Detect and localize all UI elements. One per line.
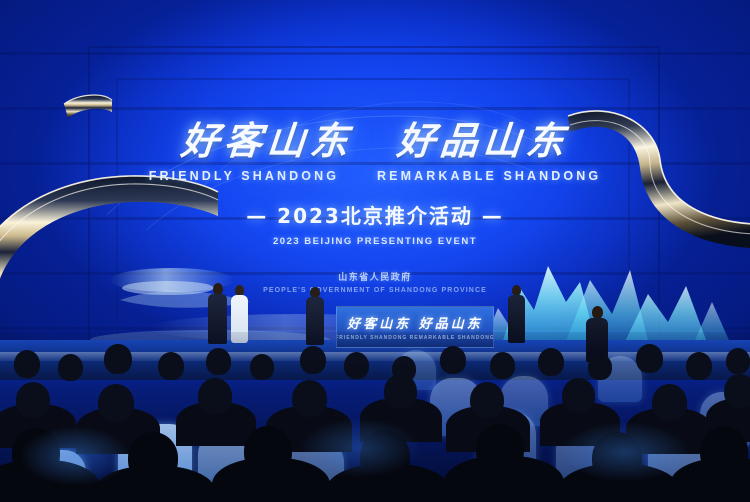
- audience-head: [562, 378, 595, 413]
- audience-head: [476, 424, 524, 474]
- organizer-english: PEOPLE'S GOVERNMENT OF SHANDONG PROVINCE: [0, 287, 750, 294]
- cn-title-left: 好客山东: [179, 122, 354, 160]
- audience-head: [104, 344, 132, 374]
- backdrop-title-block: 好客山东 好品山东 FRIENDLY SHANDONG REMARKABLE S…: [0, 122, 750, 294]
- audience-area: [0, 332, 750, 502]
- audience-head: [636, 344, 663, 373]
- audience-head: [98, 384, 134, 422]
- en-title-left: FRIENDLY SHANDONG: [149, 169, 339, 183]
- cn-title-right: 好品山东: [395, 122, 570, 160]
- audience-head: [128, 432, 178, 484]
- audience-head: [58, 354, 83, 381]
- lectern-screen-chinese: 好客山东 好品山东: [347, 313, 483, 332]
- audience-head: [12, 428, 60, 478]
- audience-head: [300, 346, 326, 374]
- audience-head: [206, 348, 231, 375]
- audience-head: [588, 354, 612, 380]
- audience-head: [360, 430, 410, 482]
- chinese-title-row: 好客山东 好品山东: [0, 122, 750, 160]
- audience-head: [726, 348, 750, 374]
- audience-head: [538, 348, 564, 376]
- audience-head: [652, 384, 687, 421]
- audience-head: [686, 352, 712, 380]
- event-name-chinese: — 2023北京推介活动 —: [0, 200, 750, 229]
- audience-head: [198, 378, 232, 414]
- audience-head: [440, 346, 466, 374]
- audience-head: [292, 380, 327, 417]
- en-title-right: REMARKABLE SHANDONG: [377, 169, 601, 183]
- audience-head: [344, 352, 369, 379]
- audience-head: [158, 352, 184, 380]
- audience-head: [592, 432, 642, 484]
- audience-head: [490, 352, 515, 379]
- event-name-english: 2023 BEIJING PRESENTING EVENT: [0, 236, 750, 247]
- audience-head: [250, 354, 274, 380]
- english-title-row: FRIENDLY SHANDONG REMARKABLE SHANDONG: [0, 169, 750, 183]
- audience-head: [16, 382, 50, 418]
- audience-head: [384, 374, 417, 409]
- organizer-chinese: 山东省人民政府: [0, 270, 750, 283]
- audience-head: [470, 382, 504, 418]
- audience-head: [700, 426, 748, 476]
- audience-head: [724, 374, 750, 408]
- stage-photograph: 好客山东 好品山东 FRIENDLY SHANDONG REMARKABLE S…: [0, 0, 750, 502]
- audience-head: [14, 350, 40, 378]
- audience-head: [244, 426, 292, 476]
